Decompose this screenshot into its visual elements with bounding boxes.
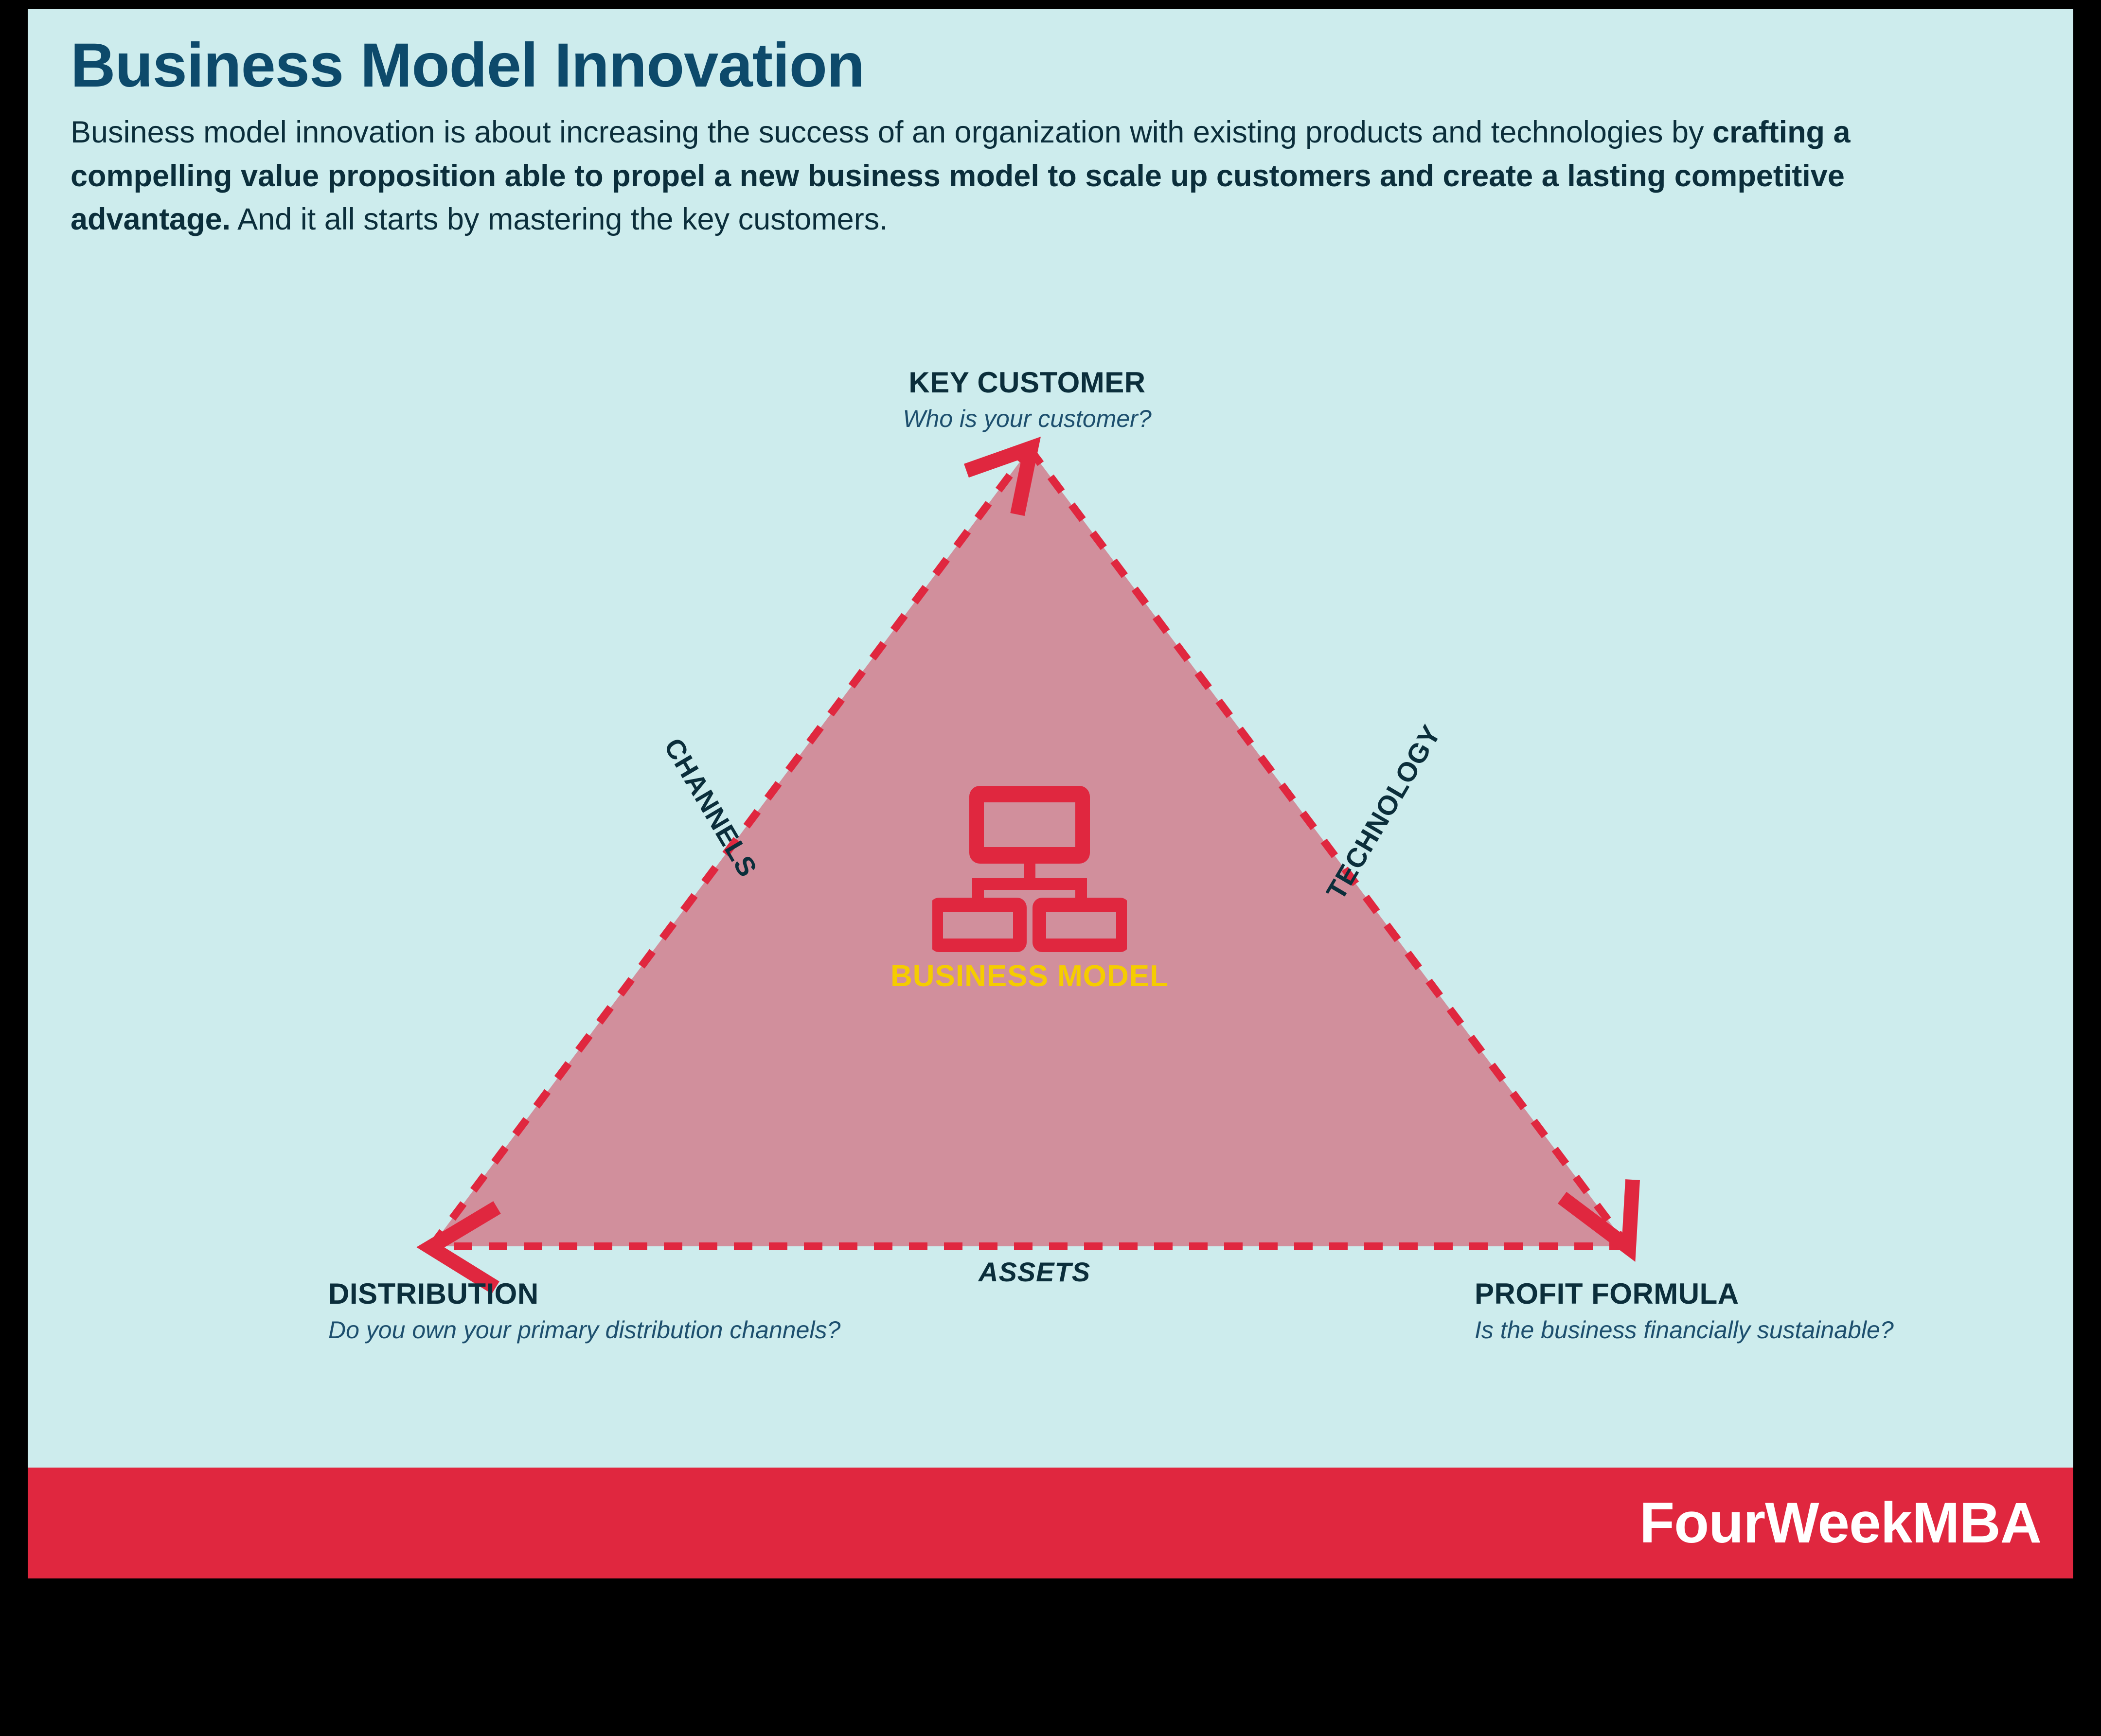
infographic-canvas: Business Model Innovation Business model…: [28, 9, 2073, 1578]
business-model-caption: BUSINESS MODEL: [869, 959, 1190, 993]
node-profit-formula: PROFIT FORMULA Is the business financial…: [1475, 1278, 1894, 1346]
node-key-customer: KEY CUSTOMER Who is your customer?: [872, 367, 1183, 434]
node-question-distribution: Do you own your primary distribution cha…: [328, 1315, 840, 1346]
node-title-profit-formula: PROFIT FORMULA: [1475, 1278, 1894, 1310]
triangle-diagram: KEY CUSTOMER Who is your customer? DISTR…: [28, 9, 2073, 1578]
hierarchy-network-icon: [932, 777, 1127, 952]
node-title-distribution: DISTRIBUTION: [328, 1278, 840, 1310]
footer-bar: FourWeekMBA: [28, 1468, 2073, 1578]
node-question-profit-formula: Is the business financially sustainable?: [1475, 1315, 1894, 1346]
center-business-model: BUSINESS MODEL: [869, 777, 1190, 993]
node-question-key-customer: Who is your customer?: [872, 404, 1183, 434]
node-title-key-customer: KEY CUSTOMER: [872, 367, 1183, 399]
edge-label-assets: ASSETS: [979, 1256, 1090, 1288]
node-distribution: DISTRIBUTION Do you own your primary dis…: [328, 1278, 840, 1346]
brand-logo: FourWeekMBA: [1639, 1490, 2041, 1556]
